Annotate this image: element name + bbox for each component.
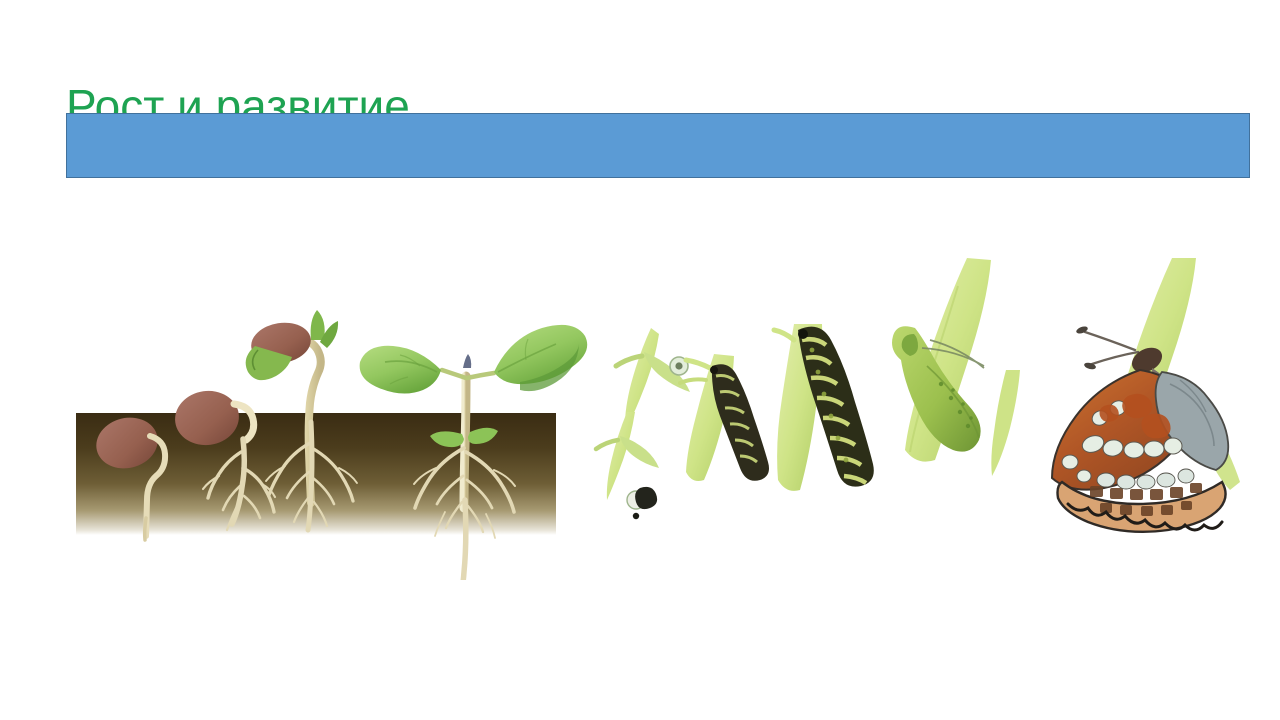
stage-large-caterpillar [774,324,874,491]
content-placeholder-banner[interactable] [66,113,1250,178]
stage-chrysalis [892,258,991,462]
growth-and-development-image [0,200,1280,580]
stage-butterfly [991,258,1240,532]
slide-canvas: Рост и развитие [0,0,1280,720]
stage-small-caterpillar [680,354,769,481]
stage-eggs [596,328,690,519]
